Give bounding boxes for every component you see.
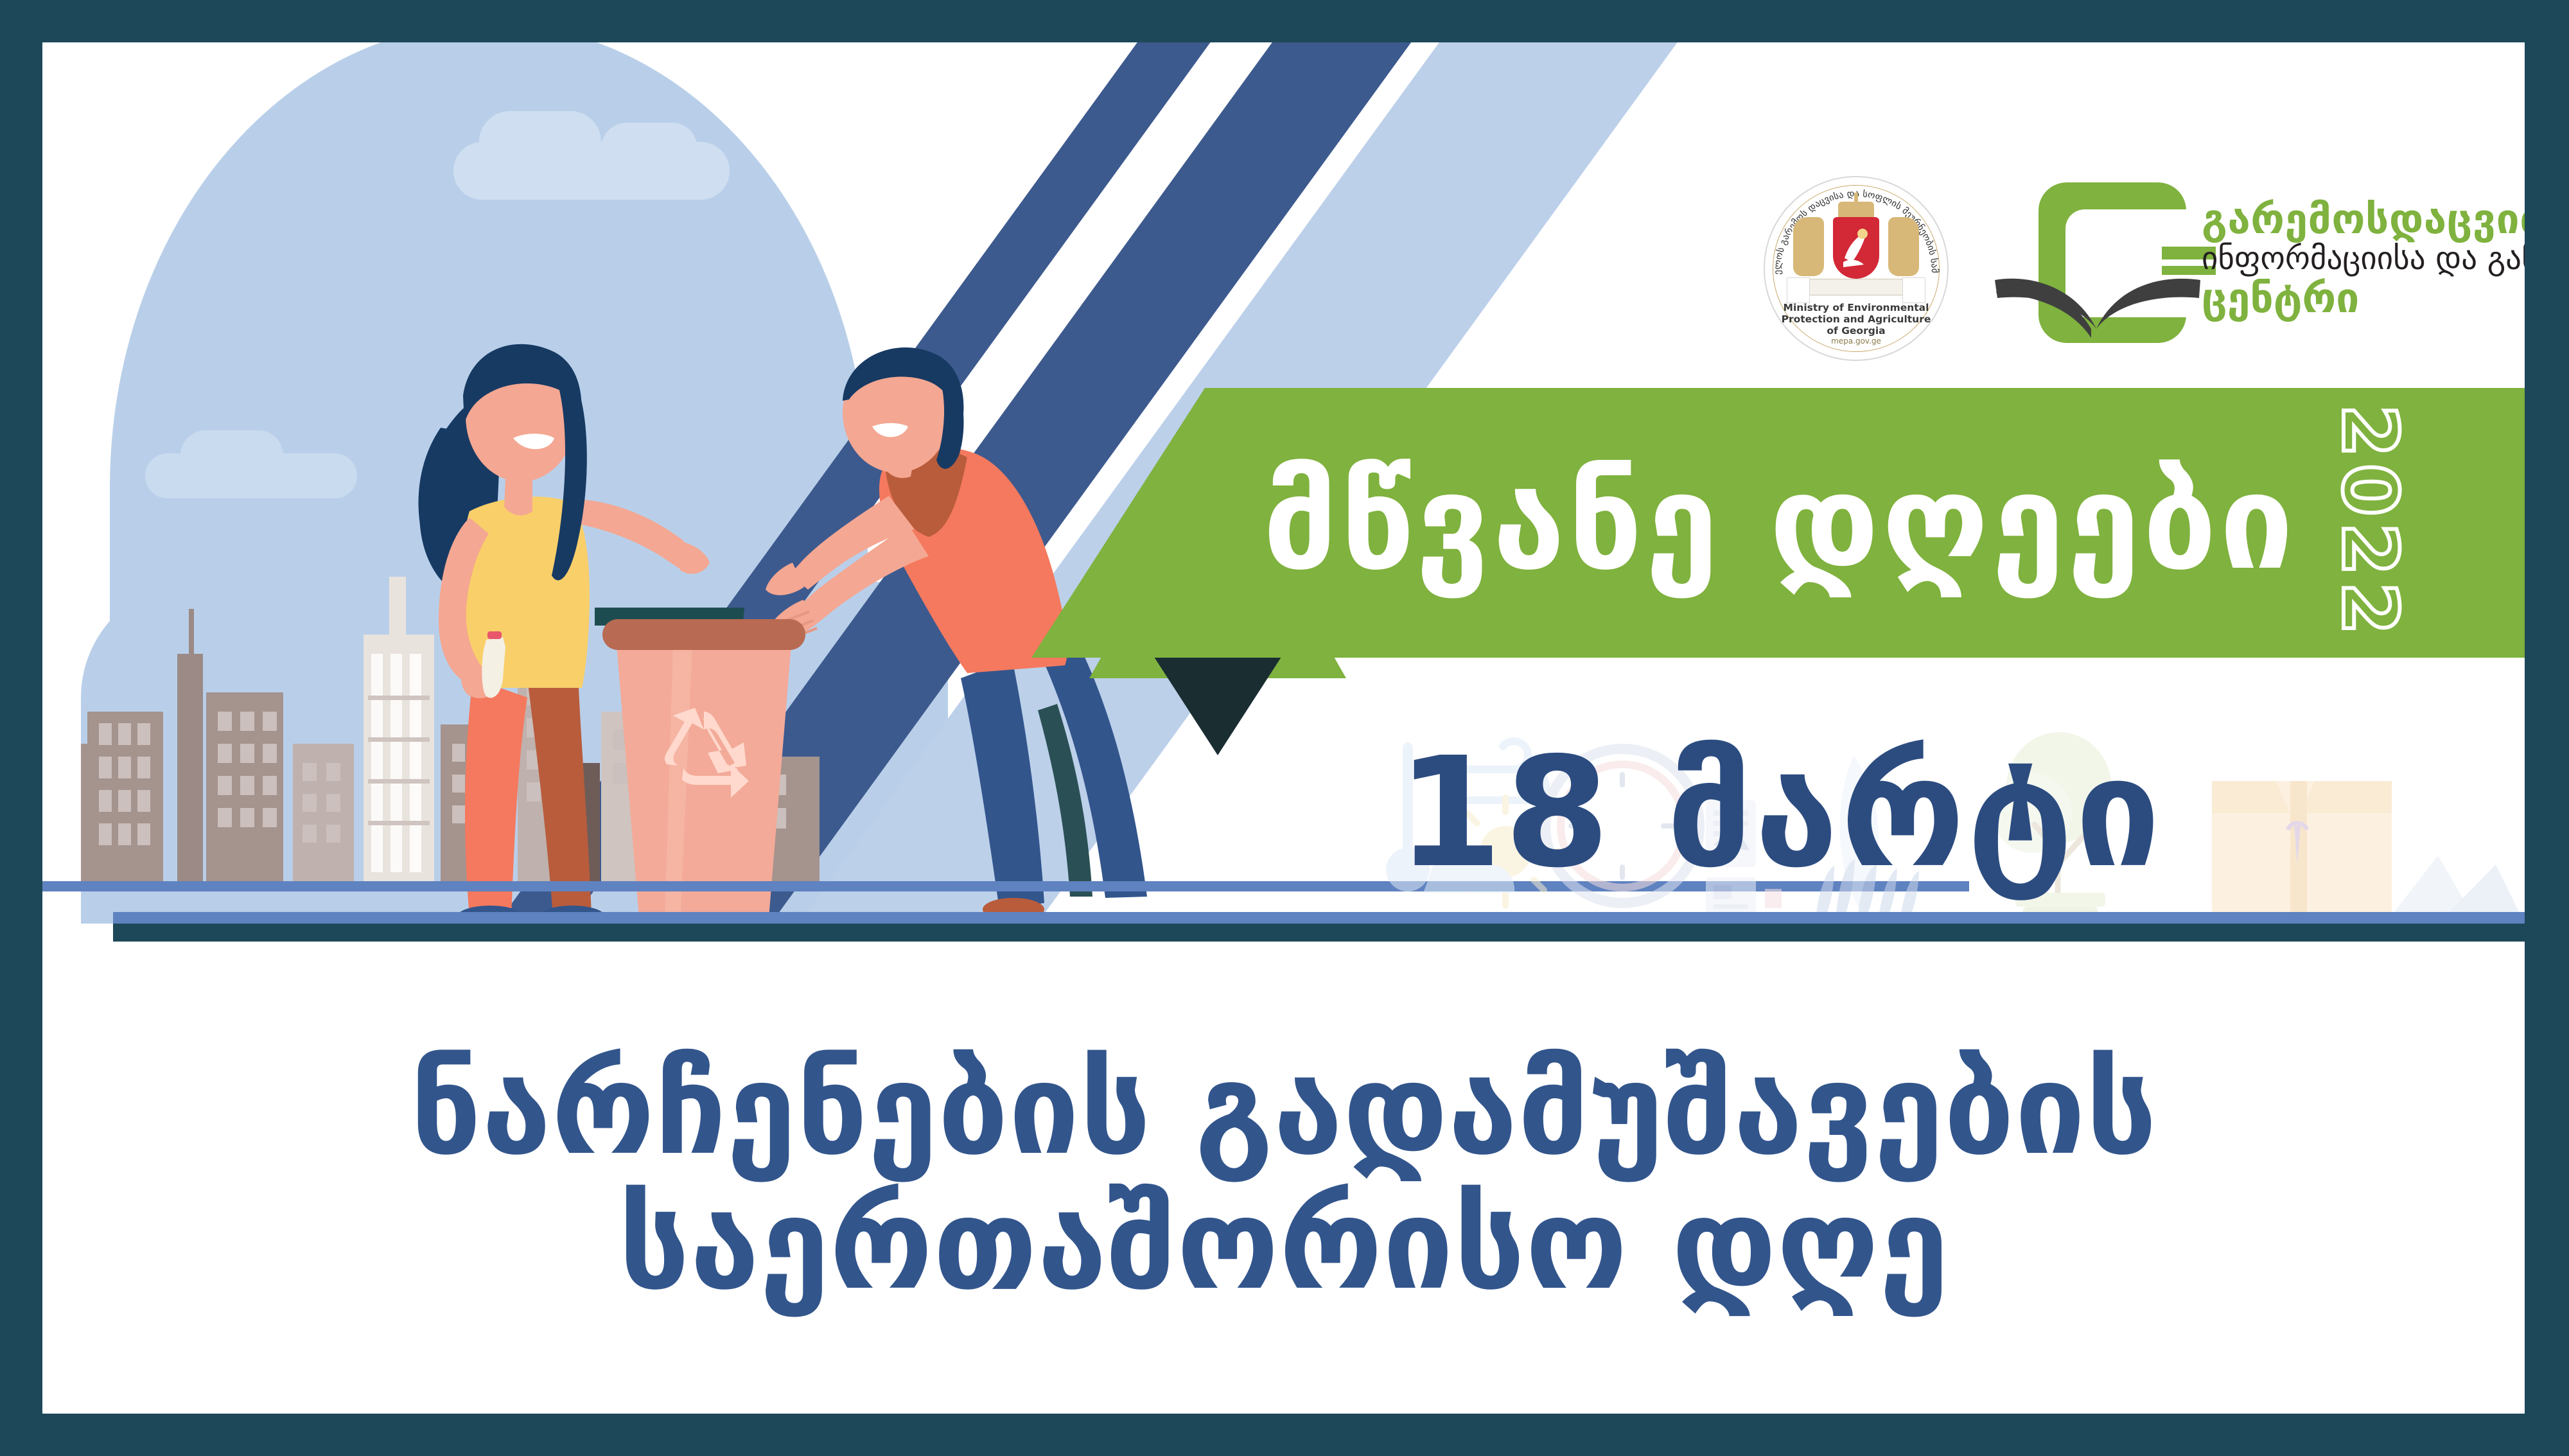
date-banner: 18 მარტი: [1031, 707, 2525, 919]
bottom-title-panel: ნარჩენების გადამუშავების საერთაშორისო დღ…: [42, 942, 2525, 1414]
emblem-scroll: [1808, 279, 1904, 295]
flag-icon: [1787, 277, 1810, 303]
logo-lockup: საქართველოს გარემოს დაცვისა და სოფლის მე…: [1744, 171, 2502, 357]
top-illustration-panel: მწვანე დღეები 2022: [42, 42, 2525, 924]
emblem-url: mepa.gov.ge: [1764, 337, 1949, 346]
center-logo-wordmark: გარემოსდაცვითი ინფორმაციისა და განათლები…: [2202, 199, 2503, 320]
date-text: 18 მარტი: [1397, 737, 2162, 889]
cloud-icon: [145, 453, 357, 498]
poster-card: მწვანე დღეები 2022: [42, 42, 2525, 1414]
bottom-title-line-2: საერთაშორისო დღე: [618, 1178, 1949, 1313]
lion-icon: [1888, 217, 1919, 276]
cloud-icon: [453, 142, 730, 200]
emblem-en-line2: Protection and Agriculture: [1764, 313, 1949, 325]
open-book-icon: [1995, 267, 2200, 339]
year-label: 2022: [2326, 405, 2414, 641]
green-banner-title: მწვანე დღეები: [1263, 457, 2296, 589]
crown-icon: [1838, 202, 1874, 218]
green-title-banner: მწვანე დღეები 2022: [1031, 388, 2525, 658]
logo-line-2: ინფორმაციისა და განათლების: [2202, 240, 2503, 277]
lion-icon: [1793, 217, 1824, 276]
center-logo-mark: [2013, 171, 2205, 357]
section-divider: [113, 924, 2525, 942]
logo-line-1: გარემოსდაცვითი: [2202, 199, 2503, 240]
emblem-english-name: Ministry of Environmental Protection and…: [1764, 302, 1949, 337]
poster-root: მწვანე დღეები 2022: [0, 0, 2569, 1456]
flag-icon: [1902, 277, 1925, 303]
logo-line-3: ცენტრი: [2202, 277, 2503, 320]
recycling-bin: [595, 608, 813, 924]
emblem-en-line1: Ministry of Environmental: [1764, 302, 1949, 313]
ministry-emblem-logo: საქართველოს გარემოს დაცვისა და სოფლის მე…: [1764, 176, 1949, 361]
georgia-shield-icon: [1833, 217, 1879, 279]
divider-accent: [113, 912, 2525, 924]
bottom-title-line-1: ნარჩენების გადამუშავების: [410, 1043, 2157, 1178]
emblem-en-line3: of Georgia: [1764, 325, 1949, 337]
